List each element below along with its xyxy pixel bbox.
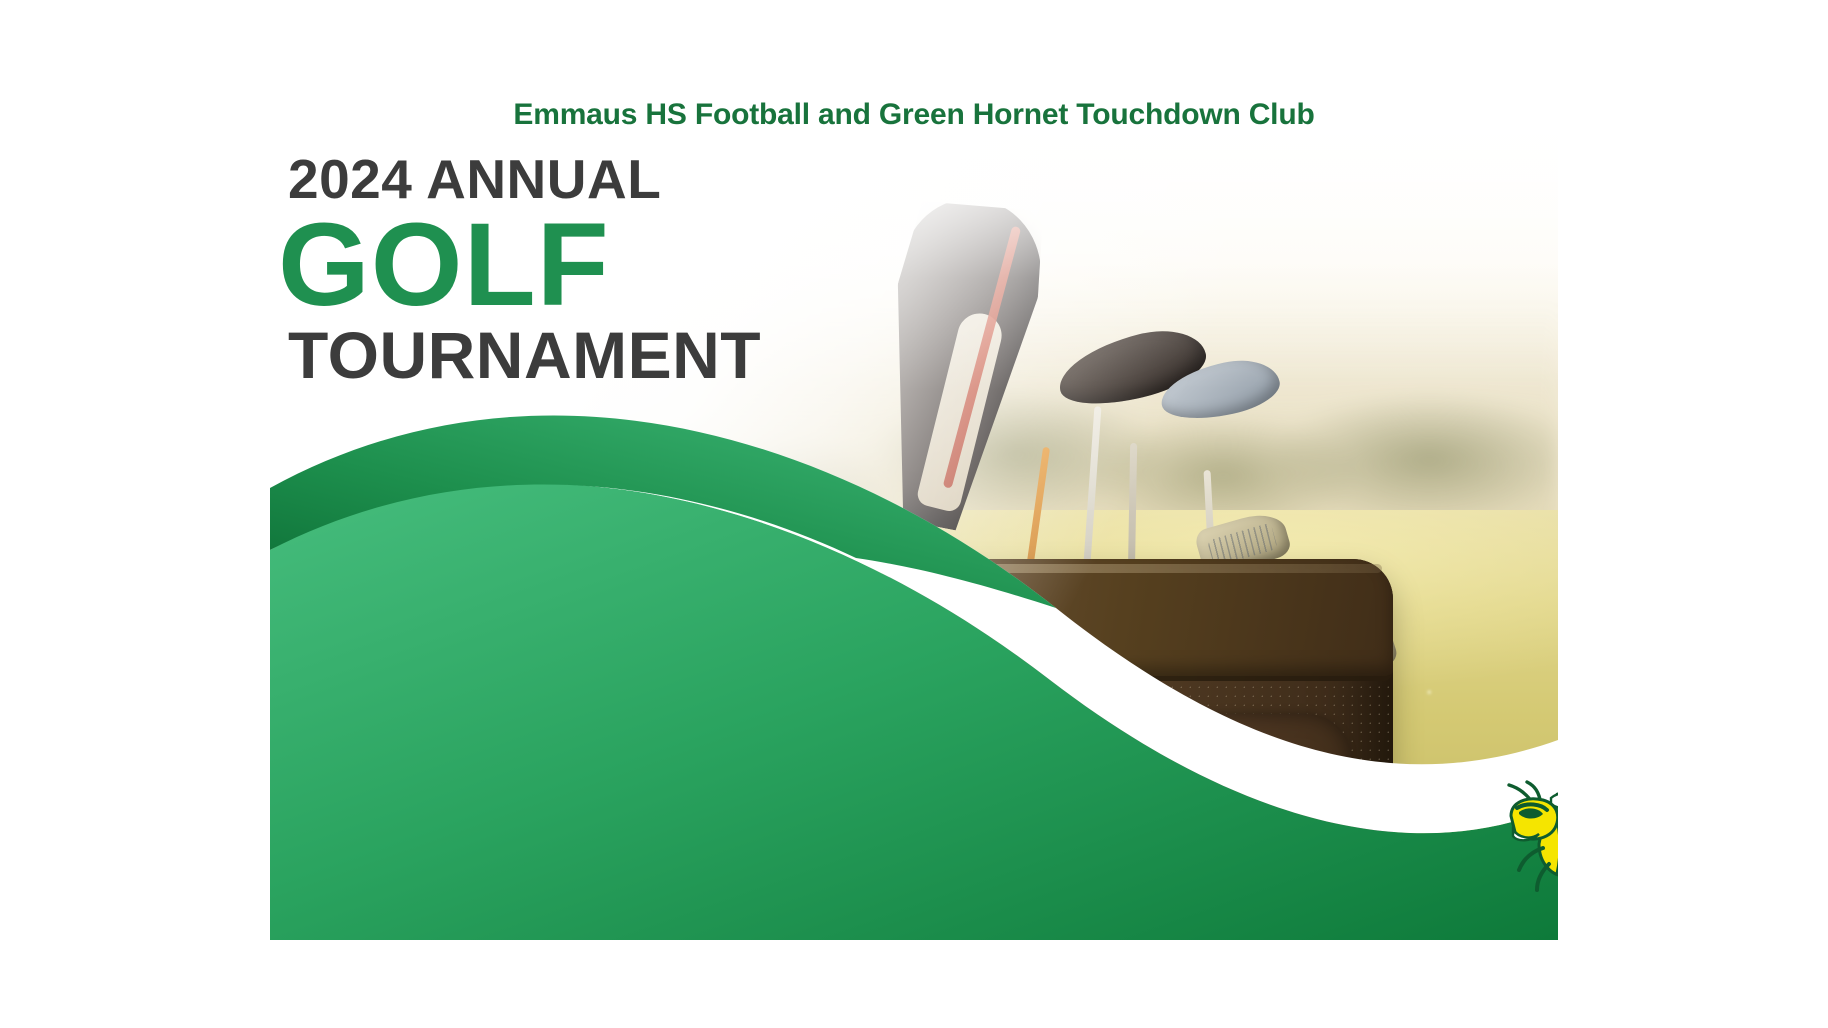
golf-tournament-poster: Emmaus HS Football and Green Hornet Touc… (270, 80, 1558, 940)
title-line-golf: GOLF (278, 211, 898, 320)
page-canvas: Emmaus HS Football and Green Hornet Touc… (0, 0, 1828, 1028)
emmaus-green-hornet-e-logo (1497, 780, 1558, 930)
page-title: 2024 ANNUAL GOLF TOURNAMENT (278, 152, 898, 388)
organization-name: Emmaus HS Football and Green Hornet Touc… (270, 98, 1558, 132)
title-line-tournament: TOURNAMENT (278, 322, 898, 388)
